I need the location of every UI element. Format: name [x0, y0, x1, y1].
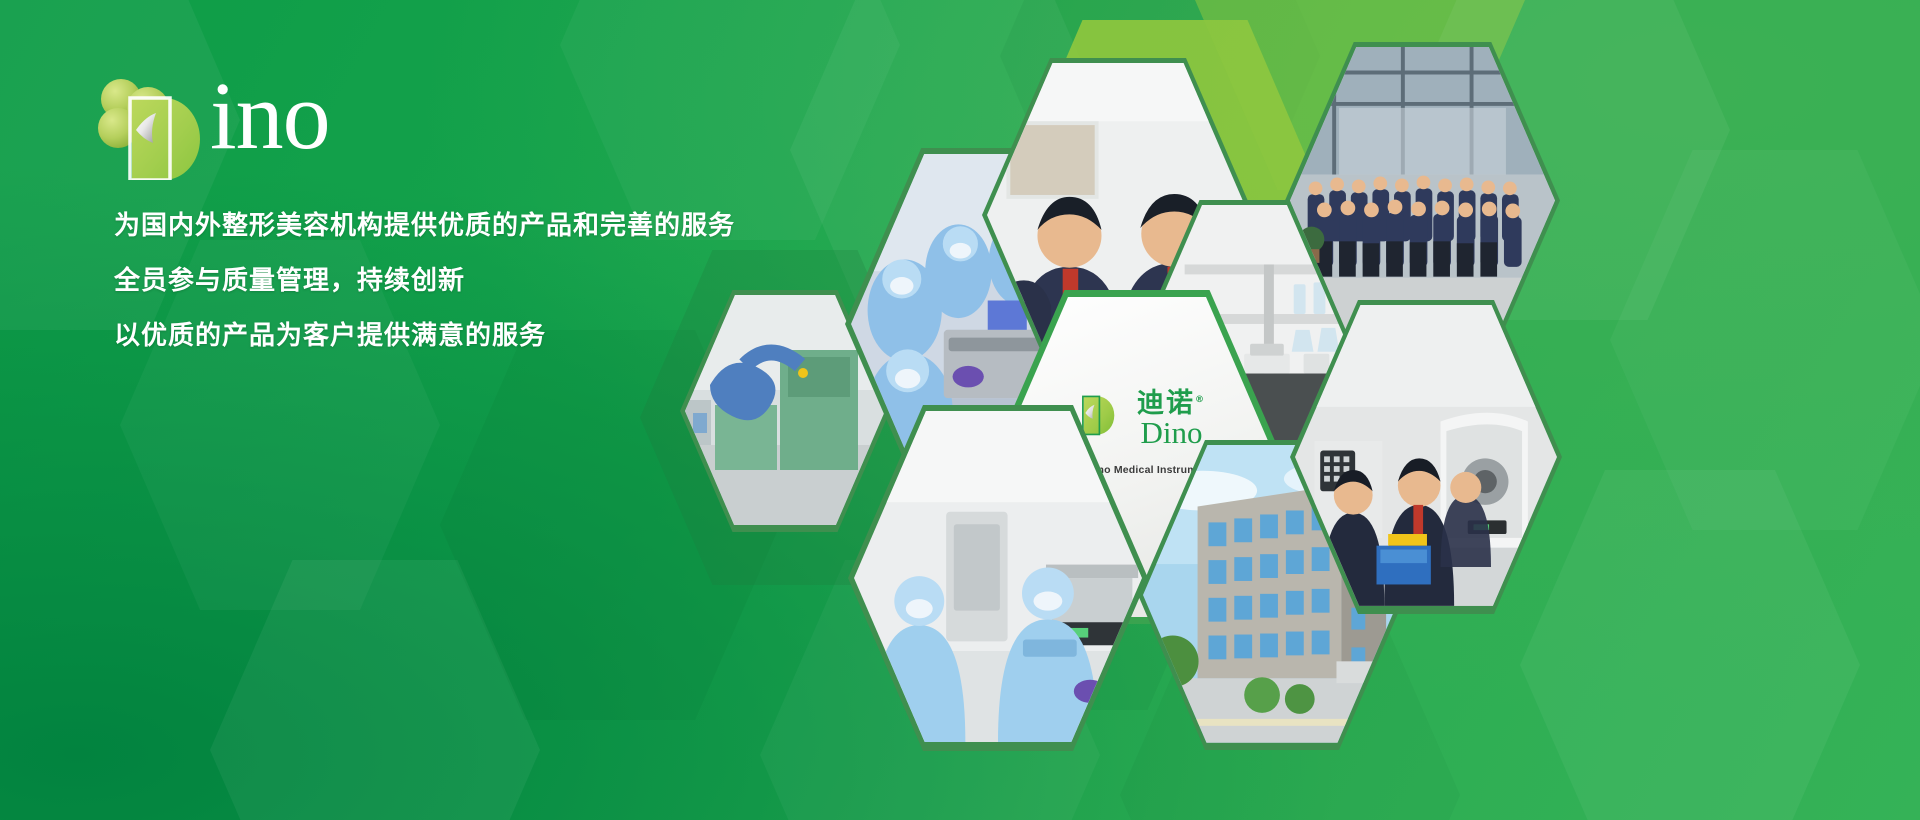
background-hexagon-3 [210, 560, 540, 820]
logo-wordmark: ino [210, 68, 330, 164]
registered-mark: ® [1195, 395, 1206, 405]
brand-logo[interactable]: ino [92, 72, 422, 180]
center-brand-cn: 迪诺® [1137, 381, 1206, 420]
center-brand-en: Dino [1137, 418, 1206, 447]
hero-banner: ino 为国内外整形美容机构提供优质的产品和完善的服务 全员参与质量管理，持续创… [0, 0, 1920, 820]
hexagon-photo-cluster: 迪诺® Dino Hangzhou Dino Medical Instrumen… [660, 0, 1920, 820]
